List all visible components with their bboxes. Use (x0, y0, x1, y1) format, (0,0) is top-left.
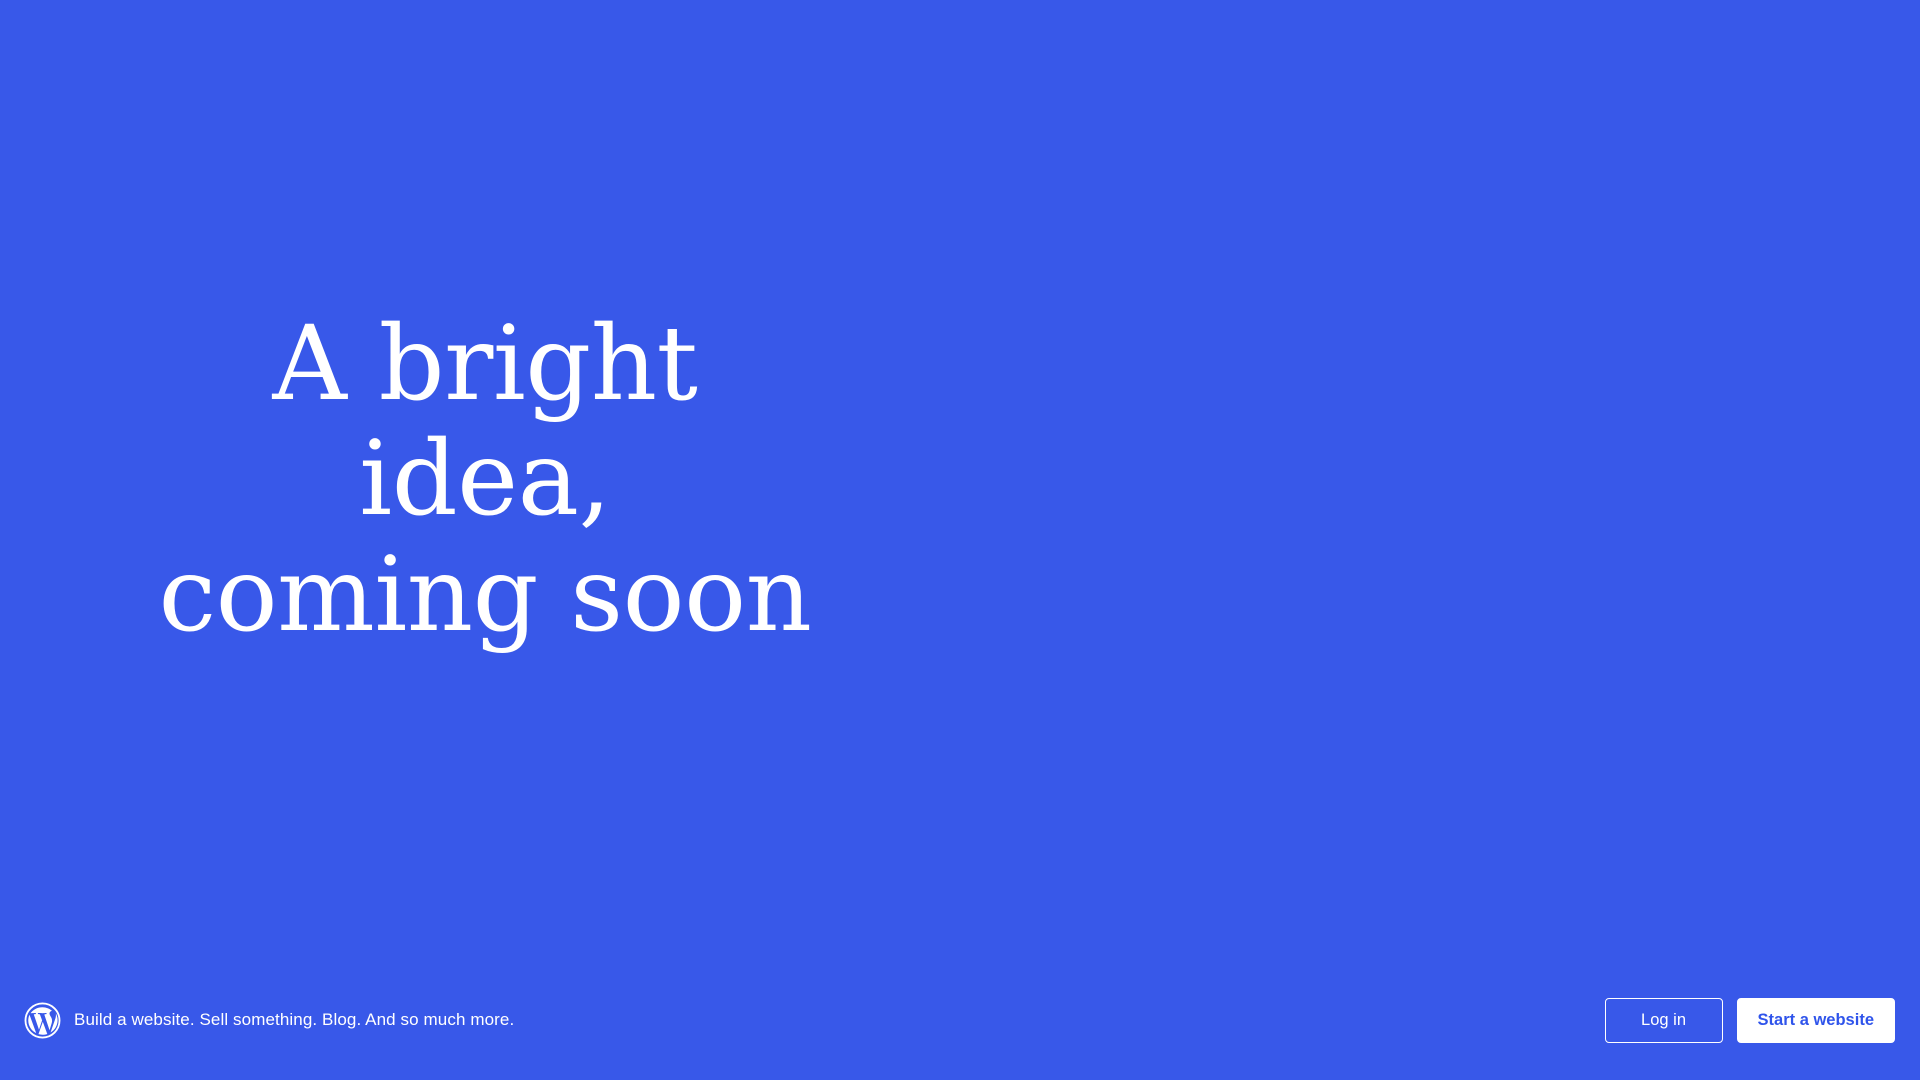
start-a-website-button[interactable]: Start a website (1737, 998, 1895, 1043)
coming-soon-page: A bright idea, coming soon Build a websi… (0, 0, 1920, 1080)
wordpress-logo-icon (24, 1002, 61, 1039)
page-title: A bright idea, coming soon (155, 307, 815, 653)
footer-actions: Log in Start a website (1605, 998, 1895, 1043)
login-button[interactable]: Log in (1605, 998, 1723, 1043)
footer-tagline: Build a website. Sell something. Blog. A… (74, 1009, 514, 1031)
footer-bar: Build a website. Sell something. Blog. A… (0, 960, 1920, 1080)
hero-section: A bright idea, coming soon (0, 0, 1920, 960)
hero-content: A bright idea, coming soon (155, 307, 815, 653)
footer-branding: Build a website. Sell something. Blog. A… (24, 1002, 514, 1039)
